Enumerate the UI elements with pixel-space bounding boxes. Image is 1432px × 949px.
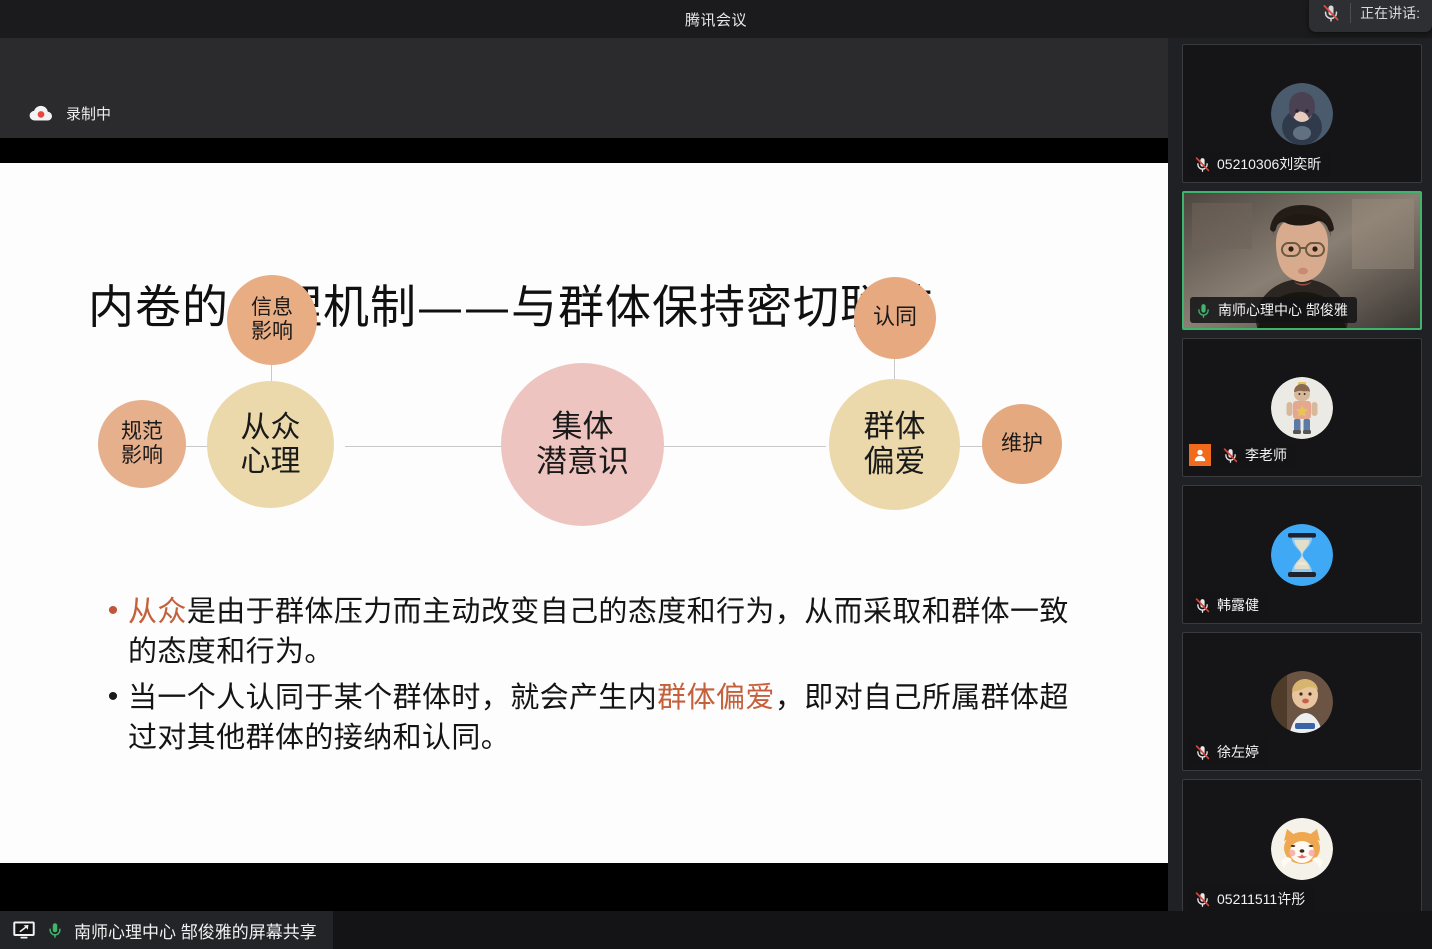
- diagram-node-label: 认同: [873, 306, 917, 331]
- microphone-on-icon: [46, 920, 64, 940]
- participant-tile[interactable]: 徐左婷: [1182, 632, 1422, 771]
- participant-name: 李老师: [1245, 445, 1287, 465]
- bullet-segment: 当一个人认同于某个群体时，就会产生内: [128, 680, 657, 714]
- anime-girl-avatar: [1271, 83, 1333, 145]
- share-status-text: 南师心理中心 郜俊雅的屏幕共享: [74, 918, 317, 943]
- participant-tile[interactable]: 韩露健: [1182, 485, 1422, 624]
- cartoon-person-avatar: [1271, 377, 1333, 439]
- diagram-node-label: 集体: [552, 410, 614, 445]
- diagram-node-label: 偏爱: [864, 445, 926, 480]
- slide-title: 内卷的心理机制——与群体保持密切联结: [88, 271, 934, 337]
- recording-label: 录制中: [66, 103, 111, 124]
- participant-name-plate: 韩露健: [1189, 592, 1268, 618]
- bullet-dot-icon: •: [98, 591, 128, 631]
- diagram-connector-collective-to-ingroup: [660, 446, 826, 447]
- concept-diagram: 规范影响信息影响从众心理集体潜意识认同群体偏爱维护: [0, 353, 1168, 583]
- diagram-node-label: 信息: [251, 296, 293, 320]
- shiba-dog-avatar: [1271, 818, 1333, 880]
- slide-bullet-item: •当一个人认同于某个群体时，就会产生内群体偏爱，即对自己所属群体超过对其他群体的…: [98, 677, 1088, 757]
- participant-name: 南师心理中心 郜俊雅: [1218, 300, 1348, 320]
- diagram-node-label: 规范: [121, 420, 163, 444]
- diagram-node-maintenance: 维护: [982, 404, 1062, 484]
- participant-tile[interactable]: 南师心理中心 郜俊雅: [1182, 191, 1422, 330]
- participant-name-plate: 05211511许彤: [1189, 886, 1314, 912]
- bullet-segment: 是由于群体压力而主动改变自己的态度和行为，从而采取和群体一致的态度和行为。: [128, 594, 1069, 668]
- participant-name-plate: 徐左婷: [1189, 739, 1268, 765]
- microphone-muted-icon: [1194, 156, 1211, 173]
- bullet-dot-icon: •: [98, 677, 128, 717]
- participant-name-plate: 李老师: [1189, 439, 1305, 471]
- participant-name: 05210306刘奕昕: [1217, 154, 1321, 174]
- slide-bullet-item: •从众是由于群体压力而主动改变自己的态度和行为，从而采取和群体一致的态度和行为。: [98, 591, 1088, 671]
- diagram-connector-ingroup-to-maintenance: [957, 446, 985, 447]
- diagram-node-label: 心理: [241, 445, 301, 479]
- microphone-on-icon: [1195, 302, 1212, 319]
- bullet-text: 从众是由于群体压力而主动改变自己的态度和行为，从而采取和群体一致的态度和行为。: [128, 591, 1088, 671]
- diagram-node-label: 从众: [241, 411, 301, 445]
- screen-share-status-bar: 南师心理中心 郜俊雅的屏幕共享: [0, 911, 1432, 949]
- hourglass-avatar: [1271, 524, 1333, 586]
- host-badge-icon: [1189, 444, 1211, 466]
- diagram-node-collective-unconscious: 集体潜意识: [501, 363, 664, 526]
- window-title: 腾讯会议: [685, 9, 747, 30]
- microphone-muted-icon: [1194, 891, 1211, 908]
- screen-share-icon: [12, 920, 36, 940]
- diagram-connector-conformity-to-collective: [345, 446, 505, 447]
- diagram-node-info-influence: 信息影响: [227, 275, 317, 365]
- shared-screen-stage[interactable]: 录制中 内卷的心理机制——与群体保持密切联结 规范影响信息影响从众心理集体潜意识…: [0, 38, 1168, 911]
- speaking-indicator: 正在讲话:: [1309, 0, 1432, 32]
- diagram-node-ingroup-favoritism: 群体偏爱: [829, 379, 960, 510]
- microphone-muted-icon: [1194, 744, 1211, 761]
- chip-divider: [1350, 3, 1351, 23]
- diagram-node-label: 潜意识: [536, 445, 629, 480]
- participant-name: 05211511许彤: [1217, 889, 1305, 909]
- share-status-pill: 南师心理中心 郜俊雅的屏幕共享: [0, 911, 333, 949]
- diagram-node-norm-influence: 规范影响: [98, 400, 186, 488]
- recording-bar: 录制中: [0, 38, 1168, 138]
- slide-bullet-list: •从众是由于群体压力而主动改变自己的态度和行为，从而采取和群体一致的态度和行为。…: [98, 591, 1088, 763]
- bullet-keyword: 群体偏爱: [657, 680, 775, 714]
- diagram-node-label: 影响: [121, 444, 163, 468]
- participant-name: 徐左婷: [1217, 742, 1259, 762]
- microphone-muted-icon: [1222, 447, 1239, 464]
- diagram-node-label: 群体: [864, 410, 926, 445]
- diagram-node-conformity: 从众心理: [207, 381, 334, 508]
- diagram-node-label: 维护: [1001, 432, 1043, 456]
- participant-tile[interactable]: 李老师: [1182, 338, 1422, 477]
- bullet-keyword: 从众: [128, 594, 187, 628]
- name-plate-body: 李老师: [1217, 442, 1296, 468]
- participant-rail[interactable]: 05210306刘奕昕 南师心理中心 郜俊雅: [1172, 44, 1432, 909]
- participant-name: 韩露健: [1217, 595, 1259, 615]
- cloud-recording-icon: [28, 104, 54, 124]
- speaking-label: 正在讲话:: [1360, 3, 1420, 23]
- participant-name-plate: 05210306刘奕昕: [1189, 151, 1330, 177]
- window-title-bar: 腾讯会议 正在讲话:: [0, 0, 1432, 38]
- presentation-slide: 内卷的心理机制——与群体保持密切联结 规范影响信息影响从众心理集体潜意识认同群体…: [0, 163, 1168, 863]
- microphone-muted-icon: [1321, 3, 1341, 23]
- microphone-muted-icon: [1194, 597, 1211, 614]
- participant-tile[interactable]: 05211511许彤: [1182, 779, 1422, 918]
- diagram-node-label: 影响: [251, 320, 293, 344]
- bullet-text: 当一个人认同于某个群体时，就会产生内群体偏爱，即对自己所属群体超过对其他群体的接…: [128, 677, 1088, 757]
- participant-name-plate: 南师心理中心 郜俊雅: [1190, 297, 1357, 323]
- participant-tile[interactable]: 05210306刘奕昕: [1182, 44, 1422, 183]
- diagram-node-identification: 认同: [854, 277, 936, 359]
- child-photo-avatar: [1271, 671, 1333, 733]
- tencent-meeting-window: 腾讯会议 正在讲话: 录制中: [0, 0, 1432, 949]
